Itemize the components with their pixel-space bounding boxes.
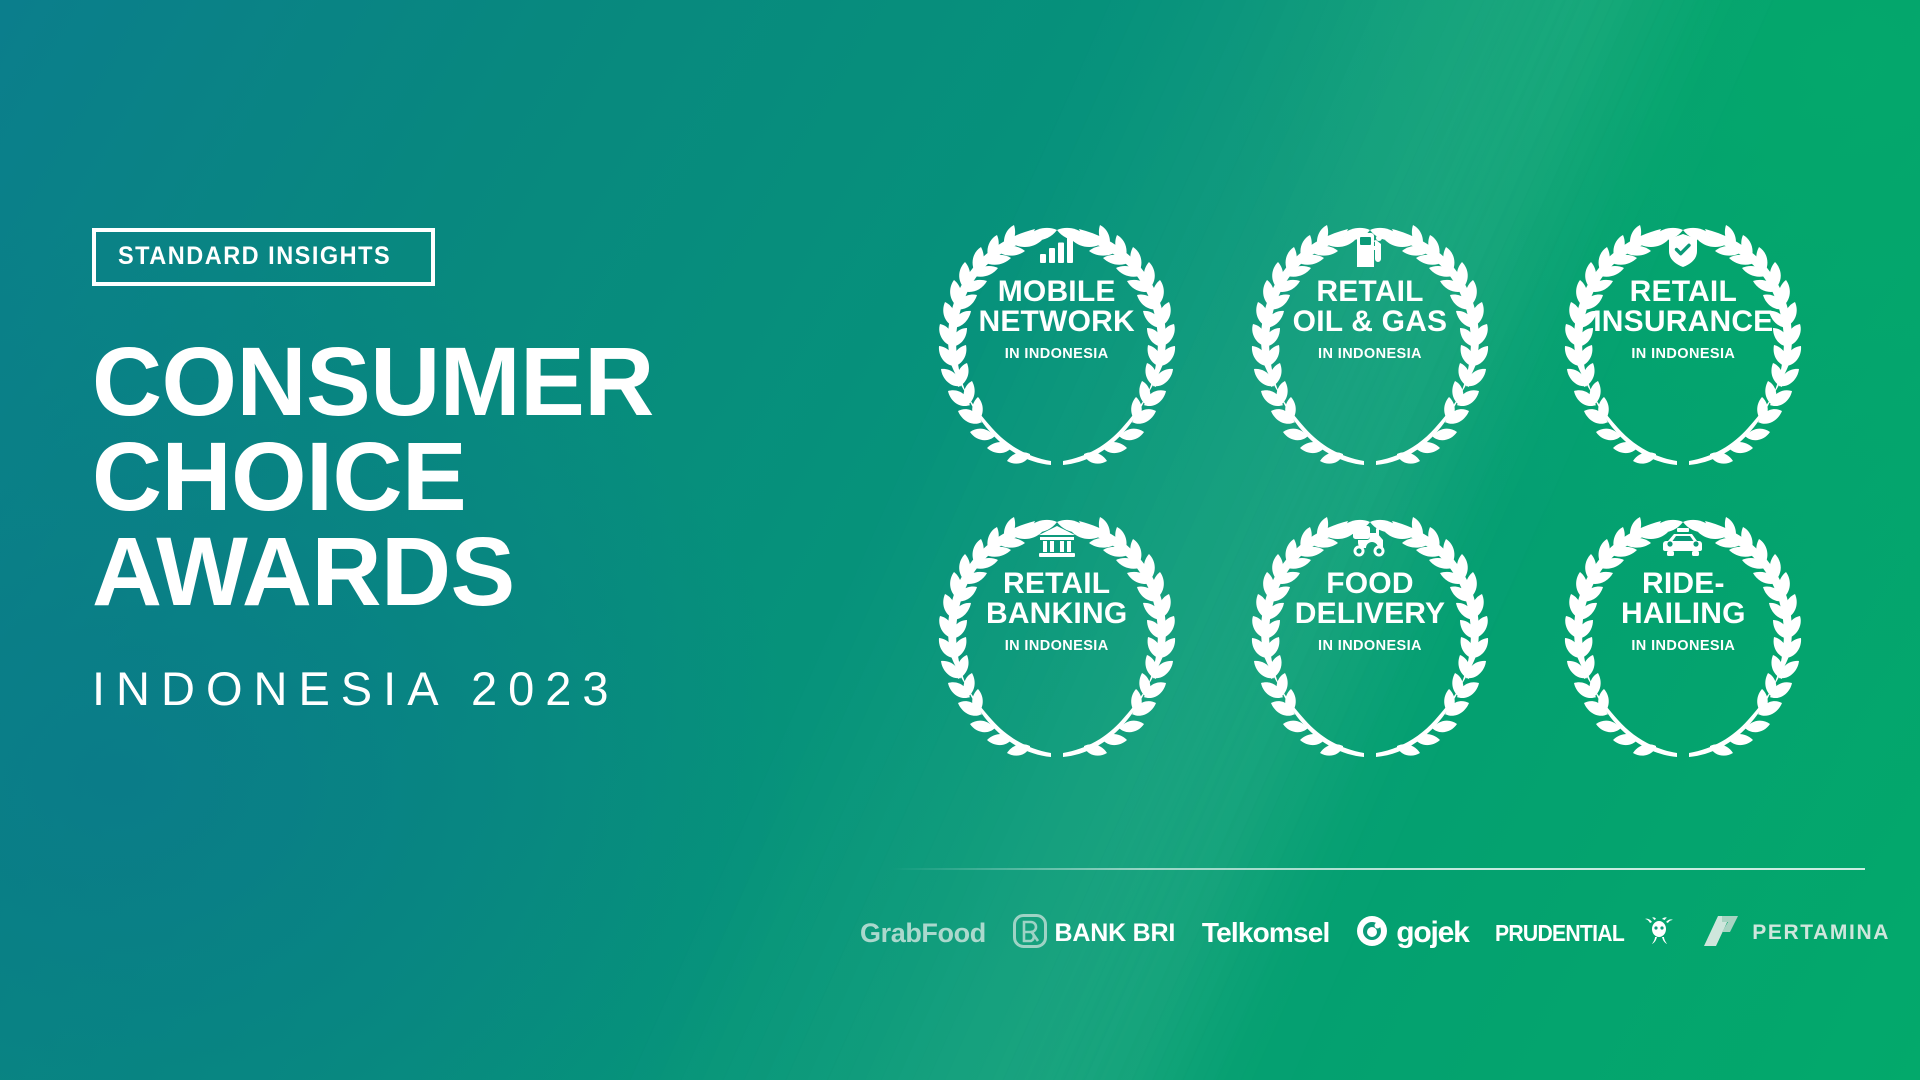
award-badge-content: MOBILE NETWORK IN INDONESIA bbox=[957, 225, 1157, 362]
award-category-line-2: HAILING bbox=[1583, 599, 1783, 629]
award-badge: FOOD DELIVERY IN INDONESIA bbox=[1230, 517, 1510, 757]
award-badge: MOBILE NETWORK IN INDONESIA bbox=[917, 225, 1197, 465]
award-category: RETAIL INSURANCE bbox=[1583, 277, 1783, 337]
divider bbox=[890, 868, 1865, 870]
award-category-line-2: BANKING bbox=[957, 599, 1157, 629]
award-badge: RETAIL OIL & GAS IN INDONESIA bbox=[1230, 225, 1510, 465]
award-category: MOBILE NETWORK bbox=[957, 277, 1157, 337]
award-category-line-2: INSURANCE bbox=[1583, 307, 1783, 337]
award-badge: RIDE- HAILING IN INDONESIA bbox=[1543, 517, 1823, 757]
prudential-crest-icon bbox=[1644, 917, 1674, 950]
prudential-logo: PRUDENTIAL bbox=[1495, 917, 1673, 950]
award-badge-content: RIDE- HAILING IN INDONESIA bbox=[1583, 517, 1783, 654]
delivery-scooter-icon bbox=[1270, 523, 1470, 561]
award-category-line-1: RETAIL bbox=[1316, 275, 1423, 308]
sponsor-logo-strip: GrabFood BANK BRI Telkomsel gojek PRUDEN… bbox=[860, 898, 1890, 968]
bank-bri-logo: BANK BRI bbox=[1013, 914, 1176, 953]
pertamina-arrow-icon bbox=[1700, 916, 1744, 951]
award-category-line-1: FOOD bbox=[1326, 567, 1413, 600]
page-title-line-2: CHOICE bbox=[92, 429, 792, 524]
prudential-logo-text: PRUDENTIAL bbox=[1495, 920, 1624, 947]
gojek-logo: gojek bbox=[1356, 915, 1468, 952]
page-title: CONSUMER CHOICE AWARDS bbox=[92, 334, 792, 619]
gojek-logo-text: gojek bbox=[1396, 916, 1468, 950]
signal-bars-icon bbox=[957, 231, 1157, 269]
page-title-line-3: AWARDS bbox=[92, 524, 792, 619]
gojek-mark-icon bbox=[1356, 915, 1388, 952]
award-region: IN INDONESIA bbox=[1270, 346, 1470, 362]
grabfood-logo-text: GrabFood bbox=[860, 918, 986, 949]
telkomsel-logo: Telkomsel bbox=[1202, 917, 1330, 949]
bank-building-icon bbox=[957, 523, 1157, 561]
shield-check-icon bbox=[1583, 231, 1783, 269]
pertamina-logo: PERTAMINA bbox=[1700, 916, 1890, 951]
page-title-line-1: CONSUMER bbox=[92, 334, 792, 429]
award-category-line-2: NETWORK bbox=[957, 307, 1157, 337]
bank-bri-logo-text: BANK BRI bbox=[1055, 919, 1176, 948]
award-category: FOOD DELIVERY bbox=[1270, 569, 1470, 629]
award-region: IN INDONESIA bbox=[957, 638, 1157, 654]
page-subtitle: INDONESIA 2023 bbox=[92, 661, 792, 716]
award-region: IN INDONESIA bbox=[1270, 638, 1470, 654]
award-badge-content: RETAIL BANKING IN INDONESIA bbox=[957, 517, 1157, 654]
award-region: IN INDONESIA bbox=[957, 346, 1157, 362]
bank-bri-mark-icon bbox=[1013, 914, 1047, 953]
award-category: RETAIL BANKING bbox=[957, 569, 1157, 629]
award-badge: RETAIL INSURANCE IN INDONESIA bbox=[1543, 225, 1823, 465]
award-category-line-1: RETAIL bbox=[1630, 275, 1737, 308]
brand-badge-label: STANDARD INSIGHTS bbox=[118, 244, 391, 269]
taxi-car-icon bbox=[1583, 523, 1783, 561]
award-category-line-1: RETAIL bbox=[1003, 567, 1110, 600]
telkomsel-logo-text: Telkomsel bbox=[1202, 917, 1330, 949]
pertamina-logo-text: PERTAMINA bbox=[1752, 921, 1890, 945]
award-category-line-1: RIDE- bbox=[1642, 567, 1725, 600]
award-badge-content: RETAIL OIL & GAS IN INDONESIA bbox=[1270, 225, 1470, 362]
award-category-line-2: OIL & GAS bbox=[1270, 307, 1470, 337]
headline-panel: STANDARD INSIGHTS CONSUMER CHOICE AWARDS… bbox=[92, 228, 792, 716]
award-badge: RETAIL BANKING IN INDONESIA bbox=[917, 517, 1197, 757]
award-category: RETAIL OIL & GAS bbox=[1270, 277, 1470, 337]
award-category: RIDE- HAILING bbox=[1583, 569, 1783, 629]
award-badge-grid: MOBILE NETWORK IN INDONESIA bbox=[900, 225, 1840, 757]
grabfood-logo: GrabFood bbox=[860, 918, 986, 949]
award-region: IN INDONESIA bbox=[1583, 638, 1783, 654]
award-badge-content: FOOD DELIVERY IN INDONESIA bbox=[1270, 517, 1470, 654]
fuel-pump-icon bbox=[1270, 231, 1470, 269]
award-badge-content: RETAIL INSURANCE IN INDONESIA bbox=[1583, 225, 1783, 362]
award-region: IN INDONESIA bbox=[1583, 346, 1783, 362]
award-category-line-1: MOBILE bbox=[998, 275, 1116, 308]
brand-badge: STANDARD INSIGHTS bbox=[92, 228, 435, 286]
award-category-line-2: DELIVERY bbox=[1270, 599, 1470, 629]
